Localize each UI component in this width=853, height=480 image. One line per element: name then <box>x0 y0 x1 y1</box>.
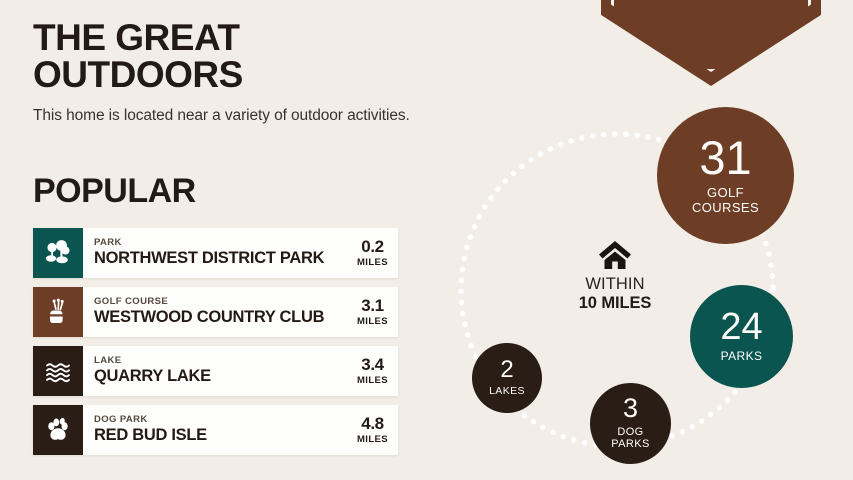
left-column: THE GREAT OUTDOORS This home is located … <box>33 0 433 464</box>
section-title-popular: POPULAR <box>33 172 433 211</box>
stat-circle-lakes[interactable]: 2 LAKES <box>472 343 542 413</box>
poi-category: DOG PARK <box>94 415 353 426</box>
poi-name: RED BUD ISLE <box>94 427 353 444</box>
list-item[interactable]: DOG PARK RED BUD ISLE 4.8 MILES <box>33 405 398 455</box>
stat-label: PARKS <box>721 350 763 363</box>
poi-distance-value: 0.2 <box>361 238 383 255</box>
poi-icon-tile <box>33 287 83 337</box>
poi-name: WESTWOOD COUNTRY CLUB <box>94 309 353 326</box>
stat-label: LAKES <box>489 386 525 398</box>
poi-distance: 3.1 MILES <box>353 287 398 337</box>
poi-distance-value: 3.1 <box>361 297 383 314</box>
poi-text: LAKE QUARRY LAKE <box>83 346 353 396</box>
stat-circle-golf-courses[interactable]: 31 GOLF COURSES <box>657 107 794 244</box>
radial-center: WITHIN 10 MILES <box>560 240 670 312</box>
badge-inner-border <box>611 0 811 72</box>
list-item[interactable]: LAKE QUARRY LAKE 3.4 MILES <box>33 346 398 396</box>
poi-distance-unit: MILES <box>357 435 388 445</box>
poi-icon-tile <box>33 228 83 278</box>
poi-icon-tile <box>33 346 83 396</box>
park-trees-icon <box>43 238 73 268</box>
poi-icon-tile <box>33 405 83 455</box>
list-item[interactable]: GOLF COURSE WESTWOOD COUNTRY CLUB 3.1 MI… <box>33 287 398 337</box>
poi-distance: 4.8 MILES <box>353 405 398 455</box>
stat-label-line2: COURSES <box>692 201 759 216</box>
stat-circle-dog-parks[interactable]: 3 DOG PARKS <box>590 383 671 464</box>
page-title: THE GREAT OUTDOORS <box>33 19 433 93</box>
stat-circle-parks[interactable]: 24 PARKS <box>690 285 793 388</box>
poi-distance: 3.4 MILES <box>353 346 398 396</box>
poi-distance: 0.2 MILES <box>353 228 398 278</box>
popular-list: PARK NORTHWEST DISTRICT PARK 0.2 MILES <box>33 228 398 455</box>
home-icon <box>598 240 632 270</box>
paw-print-icon <box>43 415 73 445</box>
stat-label: DOG PARKS <box>611 426 649 451</box>
list-item[interactable]: PARK NORTHWEST DISTRICT PARK 0.2 MILES <box>33 228 398 278</box>
poi-text: GOLF COURSE WESTWOOD COUNTRY CLUB <box>83 287 353 337</box>
poi-category: LAKE <box>94 356 353 367</box>
stat-value: 31 <box>699 136 751 181</box>
poi-distance-unit: MILES <box>357 258 388 268</box>
outdoors-badge <box>601 0 821 86</box>
stat-label: GOLF COURSES <box>692 186 759 215</box>
poi-text: DOG PARK RED BUD ISLE <box>83 405 353 455</box>
poi-distance-unit: MILES <box>357 376 388 386</box>
center-miles-label: 10 MILES <box>579 294 652 312</box>
water-waves-icon <box>43 356 73 386</box>
stat-value: 24 <box>720 309 762 345</box>
center-within-label: WITHIN <box>585 276 644 293</box>
poi-name: NORTHWEST DISTRICT PARK <box>94 250 353 267</box>
stat-label-line1: DOG <box>611 426 649 438</box>
golf-bag-icon <box>43 297 73 327</box>
poi-distance-value: 3.4 <box>361 356 383 373</box>
poi-category: GOLF COURSE <box>94 297 353 308</box>
poi-distance-unit: MILES <box>357 317 388 327</box>
poi-text: PARK NORTHWEST DISTRICT PARK <box>83 228 353 278</box>
poi-distance-value: 4.8 <box>361 415 383 432</box>
stat-value: 2 <box>500 359 513 382</box>
stat-value: 3 <box>623 396 638 422</box>
page-subtitle: This home is located near a variety of o… <box>33 107 433 125</box>
poi-category: PARK <box>94 238 353 249</box>
stat-label-line1: GOLF <box>692 186 759 201</box>
poi-name: QUARRY LAKE <box>94 368 353 385</box>
stat-label-line2: PARKS <box>611 438 649 450</box>
